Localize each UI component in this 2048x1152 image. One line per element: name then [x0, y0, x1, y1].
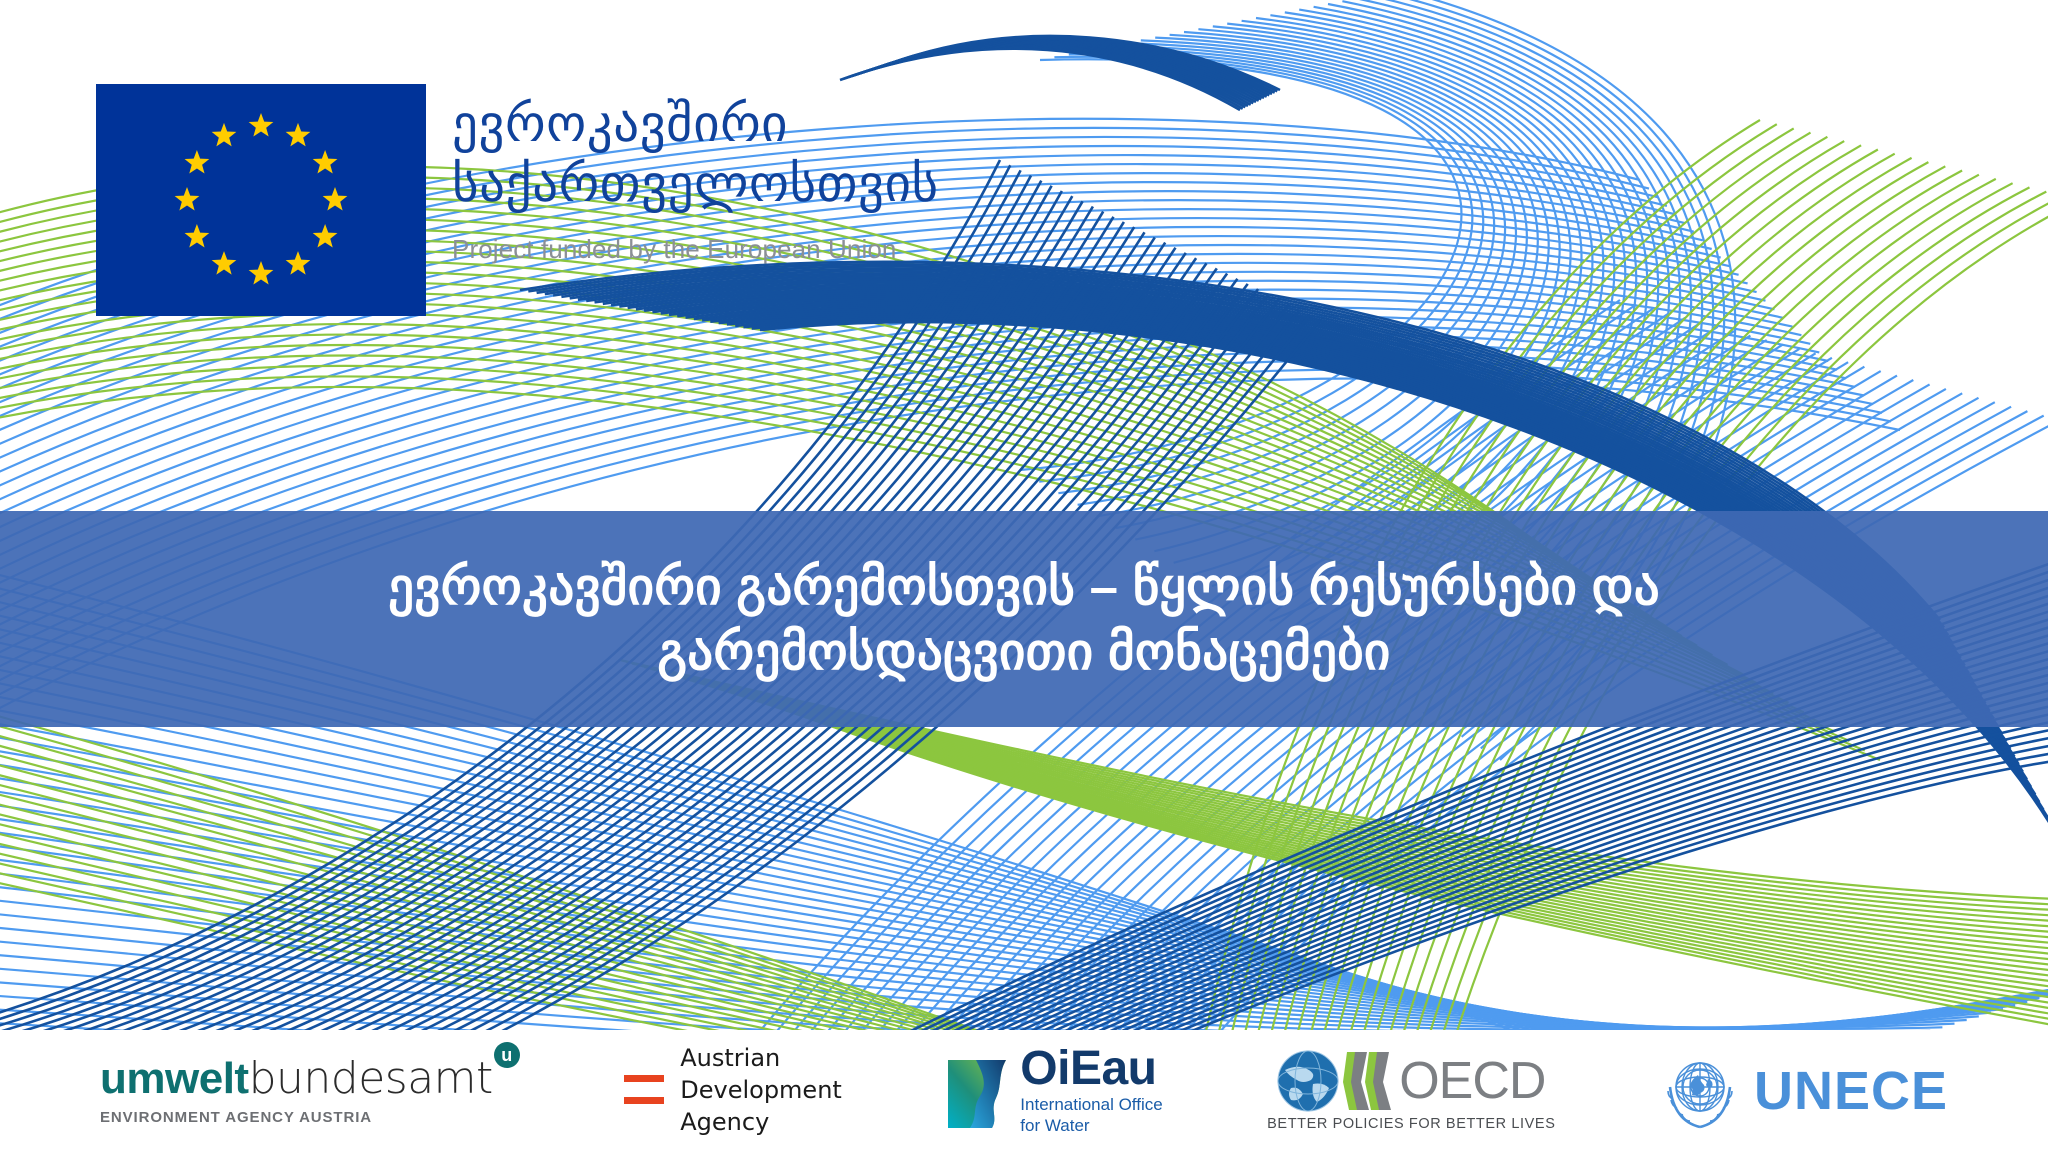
eu-logo-georgian-line-1: ევროკავშირი — [452, 94, 939, 154]
oecd-mark-row: OECD — [1277, 1050, 1545, 1112]
european-union-flag-icon — [96, 84, 426, 316]
partner-logo-bar: umweltbundesamtu ENVIRONMENT AGENCY AUST… — [0, 1030, 2048, 1152]
umweltbundesamt-wordmark: umweltbundesamtu — [100, 1057, 520, 1101]
logo-austrian-development-agency: Austrian Development Agency — [624, 1043, 842, 1139]
eu-logo-subtitle: Project funded by the European Union — [452, 234, 939, 265]
title-banner: ევროკავშირი გარემოსთვის – წყლის რესურსებ… — [0, 511, 2048, 727]
logo-oecd: OECD BETTER POLICIES FOR BETTER LIVES — [1267, 1050, 1555, 1132]
umweltbundesamt-light-part: bundesamt — [249, 1053, 493, 1104]
logo-unece: UNECE — [1660, 1051, 1948, 1131]
austria-flag-icon — [624, 1075, 664, 1108]
ada-line-2: Development — [680, 1075, 842, 1107]
oecd-tagline: BETTER POLICIES FOR BETTER LIVES — [1267, 1116, 1555, 1132]
oecd-chevrons-icon — [1343, 1050, 1393, 1112]
umweltbundesamt-badge-icon: u — [494, 1042, 520, 1068]
presentation-slide: ევროკავშირი საქართველოსთვის Project fund… — [0, 0, 2048, 1152]
globe-icon — [1277, 1050, 1339, 1112]
logo-umweltbundesamt: umweltbundesamtu ENVIRONMENT AGENCY AUST… — [100, 1057, 520, 1126]
oieau-text-block: OiEau International Office for Water — [1020, 1046, 1162, 1136]
ada-wordmark: Austrian Development Agency — [680, 1043, 842, 1139]
eu-logo-text-block: ევროკავშირი საქართველოსთვის Project fund… — [452, 84, 939, 265]
eu-funding-logo: ევროკავშირი საქართველოსთვის Project fund… — [96, 84, 939, 316]
page-title: ევროკავშირი გარემოსთვის – წყლის რესურსებ… — [174, 554, 1874, 685]
oecd-wordmark: OECD — [1399, 1051, 1545, 1111]
umweltbundesamt-bold-part: umwelt — [100, 1054, 249, 1103]
united-nations-emblem-icon — [1660, 1051, 1740, 1131]
umweltbundesamt-tagline: ENVIRONMENT AGENCY AUSTRIA — [100, 1109, 372, 1126]
oieau-sub-line-2: for Water — [1020, 1116, 1162, 1136]
eu-logo-georgian-line-2: საქართველოსთვის — [452, 154, 939, 214]
oieau-sub-line-1: International Office — [1020, 1095, 1162, 1115]
ada-line-3: Agency — [680, 1107, 842, 1139]
oieau-wordmark: OiEau — [1020, 1046, 1162, 1092]
ada-line-1: Austrian — [680, 1043, 842, 1075]
oieau-water-mark-icon — [946, 1052, 1008, 1130]
unece-wordmark: UNECE — [1754, 1060, 1948, 1122]
logo-oieau: OiEau International Office for Water — [946, 1046, 1162, 1136]
